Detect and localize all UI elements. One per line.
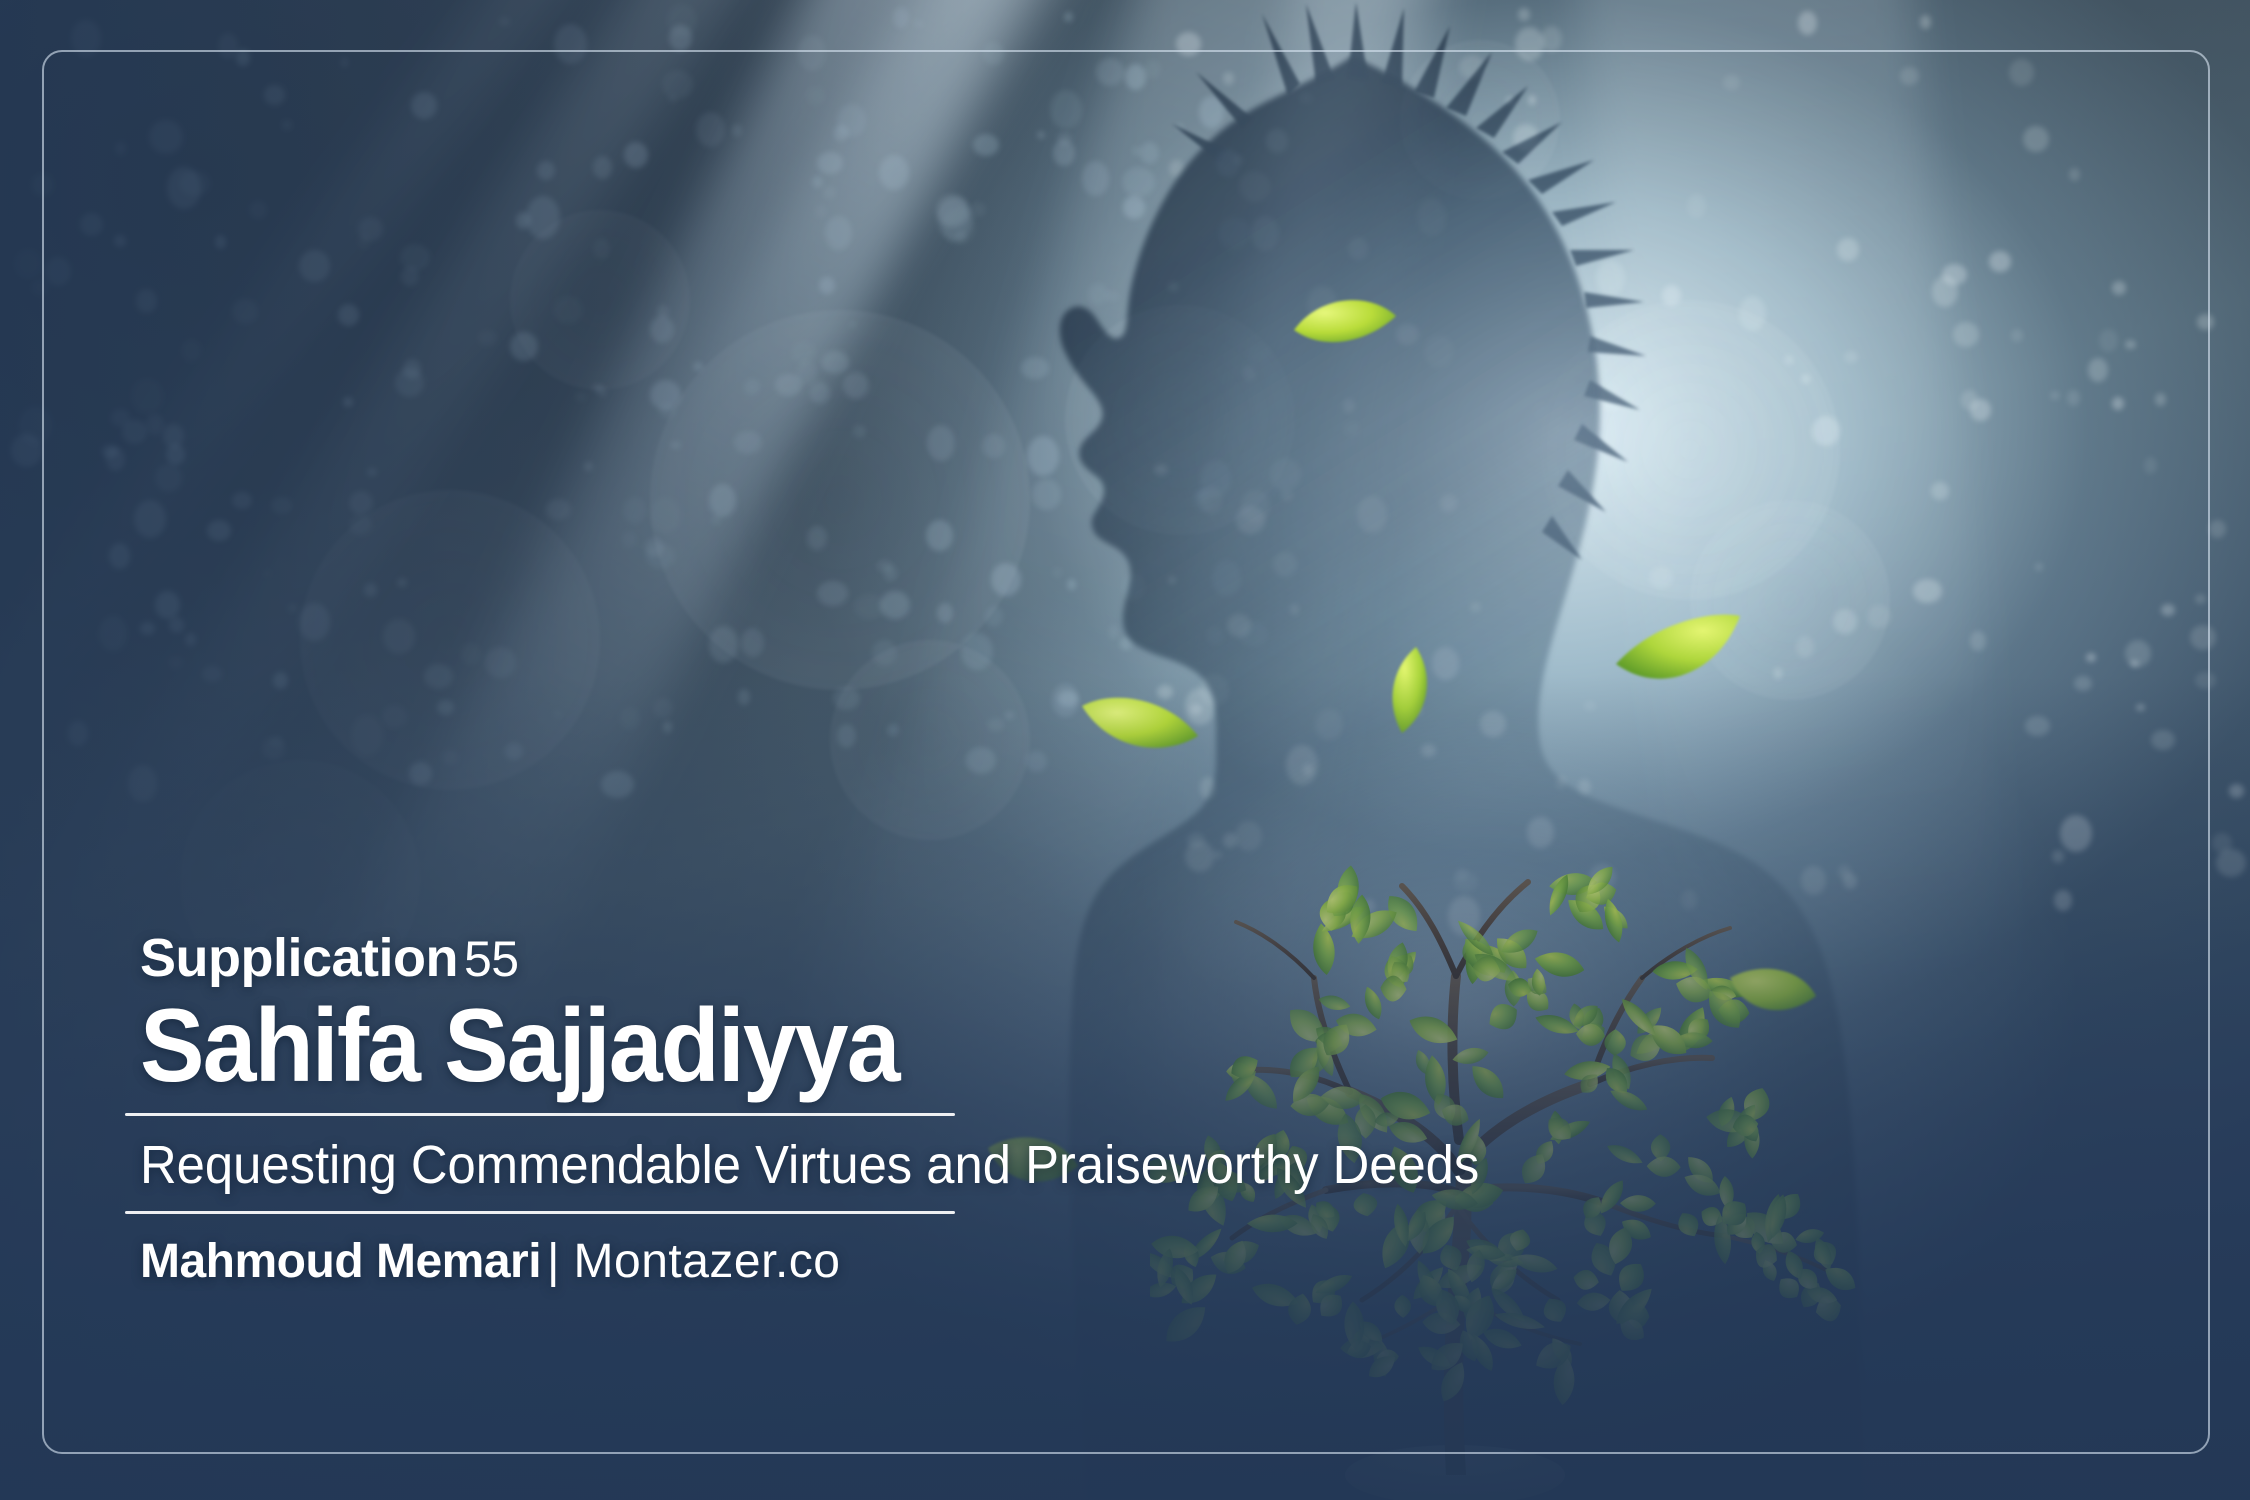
byline-separator: | [541, 1235, 573, 1288]
website-name: Montazer.co [574, 1235, 841, 1288]
title-block: Supplication55 Sahifa Sajjadiyya Request… [140, 930, 1140, 1289]
page-title: Sahifa Sajjadiyya [140, 993, 1070, 1099]
poster-canvas: Supplication55 Sahifa Sajjadiyya Request… [0, 0, 2250, 1500]
supplication-number: 55 [458, 931, 519, 987]
divider-bottom [125, 1211, 955, 1214]
supplication-label: Supplication [140, 928, 458, 988]
subtitle: Requesting Commendable Virtues and Prais… [140, 1136, 1080, 1195]
divider-top [125, 1113, 955, 1116]
author-name: Mahmoud Memari [140, 1235, 541, 1288]
byline: Mahmoud Memari|Montazer.co [140, 1234, 1140, 1289]
supplication-kicker: Supplication55 [140, 930, 1140, 987]
